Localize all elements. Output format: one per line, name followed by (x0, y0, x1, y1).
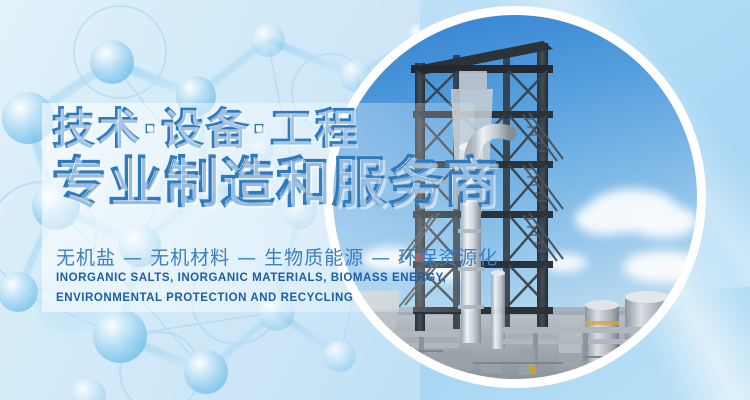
headline-line-1: 技术·设备·工程 (52, 108, 472, 150)
headline-line-2: 专业制造和服务商 (52, 156, 472, 210)
subtitle-chinese: 无机盐 — 无机材料 — 生物质能源 — 环保资源化 (56, 243, 498, 270)
promo-banner: 技术·设备·工程 专业制造和服务商 无机盐 — 无机材料 — 生物质能源 — 环… (0, 0, 750, 400)
headline-block: 技术·设备·工程 专业制造和服务商 (52, 108, 472, 210)
subtitle-english: INORGANIC SALTS, INORGANIC MATERIALS, BI… (56, 268, 456, 308)
